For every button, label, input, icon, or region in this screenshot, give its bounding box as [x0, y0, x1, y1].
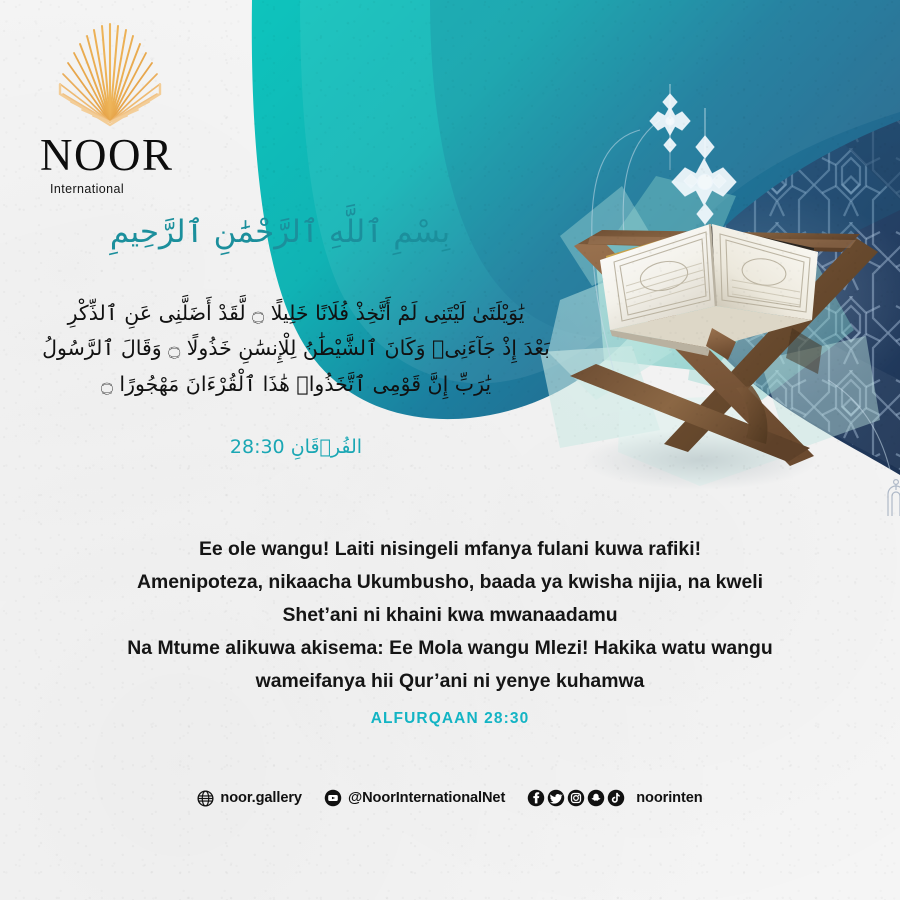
youtube-icon: [324, 789, 342, 807]
website-label: noor.gallery: [220, 790, 302, 806]
tiktok-icon[interactable]: [607, 789, 625, 807]
youtube-link[interactable]: @NoorInternationalNet: [324, 789, 505, 807]
translation-line: Na Mtume alikuwa akisema: Ee Mola wangu …: [42, 632, 858, 665]
youtube-handle: @NoorInternationalNet: [348, 790, 505, 806]
ayah-line: يَٰوَيْلَتَىٰ لَيْتَنِى لَمْ أَتَّخِذْ ف…: [18, 296, 574, 331]
social-links: noorinten: [527, 789, 702, 807]
translation-line: Shet’ani ni khaini kwa mwanaadamu: [42, 599, 858, 632]
basmala-calligraphy: بِسْمِ ٱللَّهِ ٱلرَّحْمَٰنِ ٱلرَّحِيمِ: [0, 213, 560, 252]
ayah-reference-arabic: الفُرۡقَانِ 28:30: [18, 436, 574, 458]
instagram-icon[interactable]: [567, 789, 585, 807]
translation-line: Ee ole wangu! Laiti nisingeli mfanya ful…: [42, 533, 858, 566]
quran-on-wooden-rehal-illustration: [560, 208, 880, 508]
poster-canvas: NOOR International بِسْمِ ٱللَّهِ ٱلرَّح…: [0, 0, 900, 900]
ayah-line: بَعْدَ إِذْ جَآءَنِىۗ وَكَانَ ٱلشَّيْطَٰ…: [18, 331, 574, 366]
translation-line: wameifanya hii Qur’ani ni yenye kuhamwa: [42, 665, 858, 698]
translation-text: Ee ole wangu! Laiti nisingeli mfanya ful…: [42, 533, 858, 698]
ayah-arabic-text: يَٰوَيْلَتَىٰ لَيْتَنِى لَمْ أَتَّخِذْ ف…: [18, 296, 574, 402]
social-handle: noorinten: [636, 790, 702, 806]
noor-logo: NOOR International: [38, 22, 208, 196]
snapchat-icon[interactable]: [587, 789, 605, 807]
logo-wordmark: NOOR: [40, 133, 208, 178]
social-icon-row: [527, 789, 625, 807]
twitter-icon[interactable]: [547, 789, 565, 807]
facebook-icon[interactable]: [527, 789, 545, 807]
ayah-line: يَٰرَبِّ إِنَّ قَوْمِى ٱتَّخَذُوا۟ هَٰذَ…: [18, 367, 574, 402]
globe-icon: [197, 790, 214, 807]
arch-ornament-right-edge: [884, 476, 900, 518]
footer-social-bar: noor.gallery @NoorInternationalNet: [0, 785, 900, 811]
sunburst-rays-icon: [46, 22, 174, 127]
logo-subtitle: International: [50, 182, 208, 196]
translation-line: Amenipoteza, nikaacha Ukumbusho, baada y…: [42, 566, 858, 599]
translation-reference: ALFURQAAN 28:30: [42, 710, 858, 728]
website-link[interactable]: noor.gallery: [197, 790, 302, 807]
